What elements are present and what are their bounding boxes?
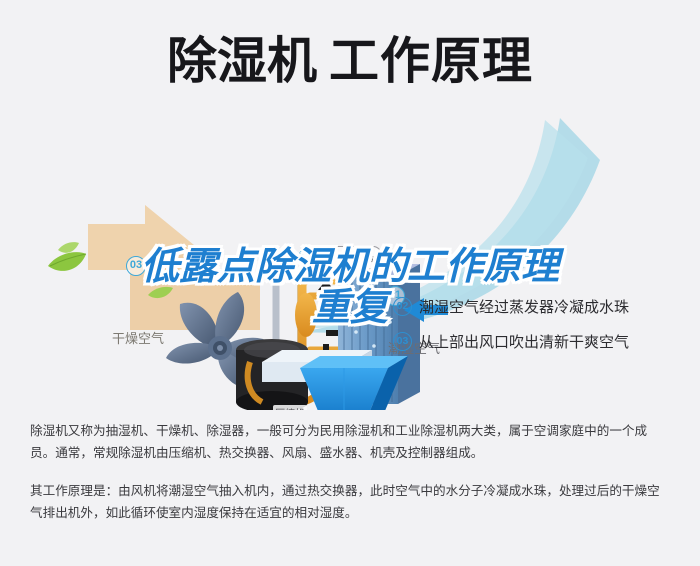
page-title-part2: 工作原理 bbox=[329, 33, 533, 89]
step-description: 潮湿空气经过蒸发器冷凝成水珠 bbox=[419, 296, 629, 317]
body-copy-section: 除湿机又称为抽湿机、干燥机、除湿器，一般可分为民用除湿机和工业除湿机两大类，属于… bbox=[30, 420, 672, 524]
body-paragraph-2: 其工作原理是：由风机将潮湿空气抽入机内，通过热交换器，此时空气中的水分子冷凝成水… bbox=[30, 480, 672, 524]
step-number-badge: 03 bbox=[393, 332, 412, 351]
list-item: 02 潮湿空气经过蒸发器冷凝成水珠 bbox=[393, 296, 629, 317]
page-title-part1: 除湿机 bbox=[167, 33, 317, 89]
list-item: 03 从上部出风口吹出清新干爽空气 bbox=[393, 331, 629, 352]
badge-02-heat-exchanger: 02 bbox=[298, 248, 318, 268]
badge-03-dry-air: 03 bbox=[126, 256, 146, 276]
step-number-badge: 02 bbox=[393, 297, 412, 316]
process-steps-list: 02 潮湿空气经过蒸发器冷凝成水珠 03 从上部出风口吹出清新干爽空气 bbox=[393, 296, 629, 366]
step-description: 从上部出风口吹出清新干爽空气 bbox=[419, 331, 629, 352]
dehumidifier-infographic-page: 除湿机工作原理 bbox=[0, 0, 700, 566]
body-paragraph-1: 除湿机又称为抽湿机、干燥机、除湿器，一般可分为民用除湿机和工业除湿机两大类，属于… bbox=[30, 420, 672, 464]
dry-air-label: 干燥空气 bbox=[112, 328, 164, 347]
page-title: 除湿机工作原理 bbox=[0, 30, 700, 92]
callout-pointer-icon bbox=[348, 265, 358, 274]
compressor-label: 压缩机 bbox=[273, 405, 307, 410]
